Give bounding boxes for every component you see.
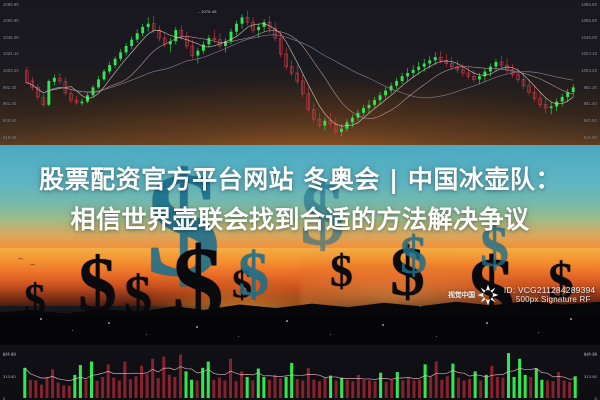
bird-silhouette: ︵: [30, 262, 35, 267]
bird-silhouette: ︵: [18, 256, 23, 261]
foreground-ground: [0, 316, 600, 346]
light-speck: [570, 318, 572, 320]
volume-chart: [0, 345, 600, 400]
light-speck: [40, 318, 42, 320]
light-speck: [382, 324, 384, 326]
price-candlestick-chart: ←1076.45: [0, 0, 600, 145]
sunset-gradient: [0, 248, 600, 306]
light-speck: [286, 320, 288, 322]
volume-series: [0, 345, 600, 400]
image-canvas: $ $ $ $ $ $ $ $ $ $ $ $ $ $ ︵ ︵ ←1076.45…: [0, 0, 600, 400]
price-annotation: ←1076.45: [197, 9, 217, 14]
light-speck: [486, 322, 488, 324]
light-speck: [108, 322, 110, 324]
light-speck: [196, 326, 198, 328]
sky-gradient: [0, 143, 600, 261]
candlestick-series: [0, 0, 600, 145]
